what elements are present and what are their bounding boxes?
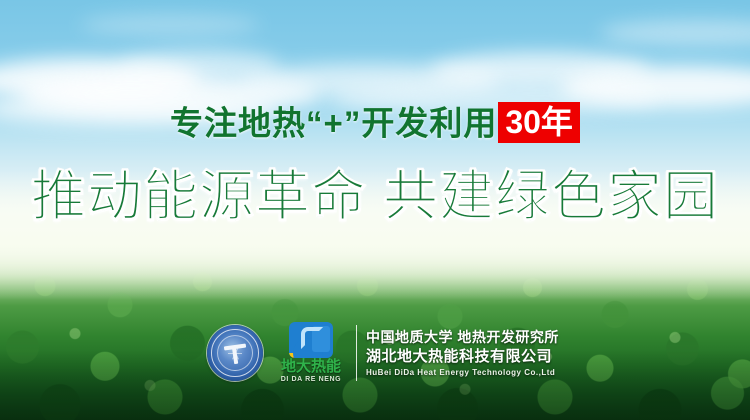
promo-banner: 专注地热“+”开发利用30年 推动能源革命共建绿色家园 地大热能 [0,0,750,420]
org-company-name-en: HuBei DiDa Heat Energy Technology Co.,Lt… [366,367,559,379]
horizon-haze [0,228,750,306]
logo-hook-shape [301,327,323,349]
cloud-shape [80,14,260,36]
dida-reneng-logo-icon [289,322,333,358]
brand-lockup: 地大热能 DI DA RE NENG 中国地质大学 地热开发研究所 湖北地大热能… [207,320,547,386]
seal-hammer-icon [224,342,246,364]
main-headline: 推动能源革命共建绿色家园 [0,163,750,229]
org-company-name-cn: 湖北地大热能科技有限公司 [366,347,559,367]
anniversary-badge: 30年 [498,102,580,143]
lockup-divider [356,325,357,381]
org-institute-name: 中国地质大学 地热开发研究所 [366,328,559,347]
headline-phrase-right: 共建绿色家园 [383,165,719,227]
brand-name-pinyin: DI DA RE NENG [269,375,353,384]
headline-phrase-left: 推动能源革命 [31,165,367,227]
organization-names: 中国地质大学 地热开发研究所 湖北地大热能科技有限公司 HuBei DiDa H… [366,328,559,379]
sub-headline-text: 专注地热“+”开发利用 [170,104,497,141]
cloud-shape [600,20,750,46]
brand-name-cn: 地大热能 [269,359,353,375]
university-seal-icon [207,325,263,381]
sub-headline: 专注地热“+”开发利用30年 [0,99,750,145]
company-brand: 地大热能 DI DA RE NENG [269,322,353,384]
